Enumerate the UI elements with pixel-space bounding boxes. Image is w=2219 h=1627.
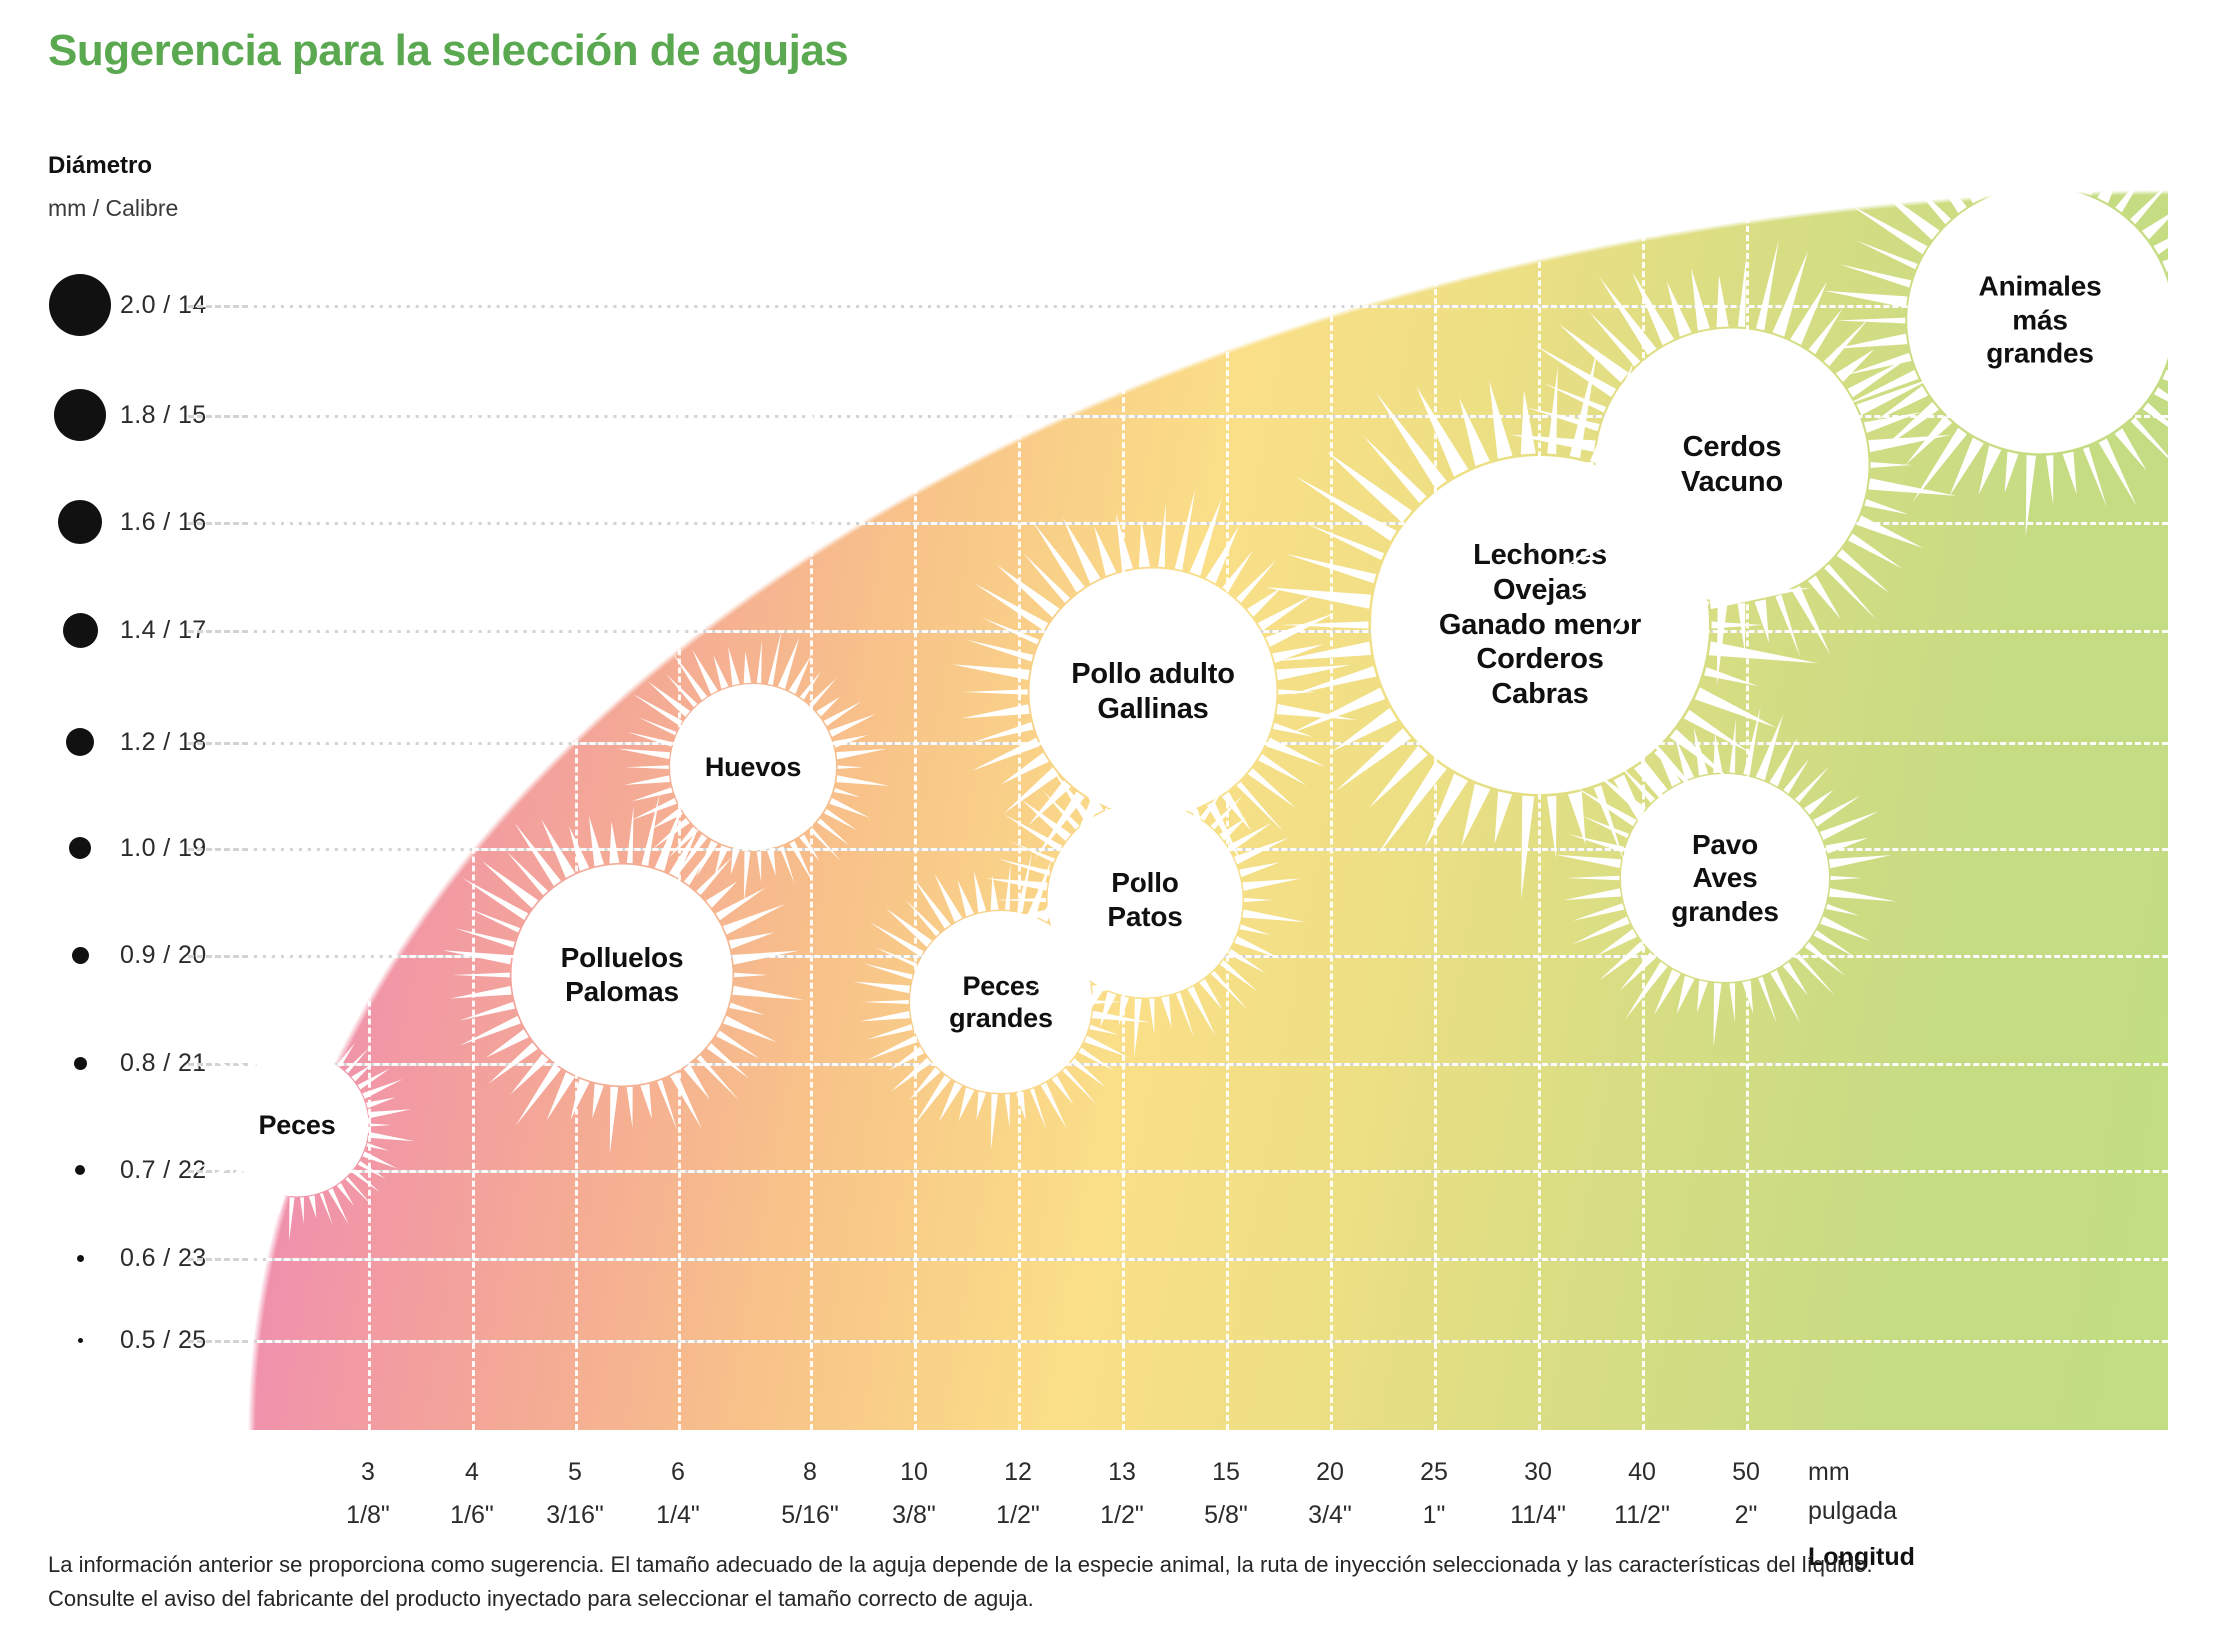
burst-label: Animalesmásgrandes [1979,270,2102,371]
burst-marker: Animalesmásgrandes [1815,95,2219,546]
legend-dot-wrap [40,1165,120,1175]
x-axis-tick: 155/8" [1204,1458,1248,1530]
needle-diameter-dot-icon [49,274,111,336]
burst-marker: PavoAvesgrandes [1549,702,1901,1054]
footer-note: La información anterior se proporciona c… [48,1548,2178,1616]
burst-label-line: grandes [1979,337,2102,371]
burst-label: PolluelosPalomas [561,941,684,1008]
x-axis-tick-mm: 8 [803,1458,817,1486]
legend-dot-wrap [40,1255,120,1262]
x-axis-tick: 131/2" [1100,1458,1144,1530]
legend-subheading: mm / Calibre [48,195,178,222]
x-axis-tick-inch: 1/2" [996,1501,1040,1530]
legend-dot-wrap [40,500,120,544]
x-axis-tick: 61/4" [656,1458,700,1530]
x-axis-tick: 3011/4" [1510,1458,1566,1530]
x-axis-tick-inch: 1/8" [346,1501,390,1530]
legend-dot-wrap [40,389,120,441]
legend-item-18: 1.2 / 18 [40,722,250,762]
burst-label-line: Pollo adulto [1071,657,1235,692]
burst-label: CerdosVacuno [1681,430,1783,500]
burst-label-line: Cerdos [1681,430,1783,465]
burst-label-line: Aves [1671,861,1779,895]
x-axis-tick-inch: 2" [1732,1501,1760,1530]
legend-dot-wrap [40,613,120,648]
x-axis-unit-mm: mm [1808,1458,1850,1487]
x-axis-tick-mm: 15 [1212,1458,1240,1486]
legend-item-label: 1.8 / 15 [120,401,207,430]
needle-diameter-dot-icon [78,1338,83,1343]
needle-diameter-dot-icon [58,500,102,544]
burst-label-line: Peces [258,1109,335,1141]
x-axis-tick-inch: 1/2" [1100,1501,1144,1530]
legend-dot-wrap [40,274,120,336]
x-axis-tick-mm: 30 [1524,1458,1552,1486]
burst-label-line: Palomas [561,975,684,1009]
x-axis-tick-mm: 50 [1732,1458,1760,1486]
legend-item-15: 1.8 / 15 [40,395,250,435]
x-axis-tick-inch: 11/4" [1510,1501,1566,1530]
x-axis-tick: 121/2" [996,1458,1040,1530]
x-axis-tick-inch: 3/4" [1308,1501,1352,1530]
needle-diameter-dot-icon [72,947,89,964]
burst-label-line: Vacuno [1681,465,1783,500]
x-axis-tick-mm: 20 [1316,1458,1344,1486]
legend-item-16: 1.6 / 16 [40,502,250,542]
x-axis-tick-inch: 1/6" [450,1501,494,1530]
burst-label: Huevos [705,751,801,783]
burst-label-line: Patos [1107,900,1182,934]
legend-dot-wrap [40,1057,120,1070]
page-title: Sugerencia para la selección de agujas [48,26,848,76]
x-axis-tick-inch: 5/8" [1204,1501,1248,1530]
legend-item-label: 1.0 / 19 [120,834,207,863]
x-axis-tick: 85/16" [781,1458,839,1530]
burst-marker: Peces [176,1004,418,1246]
needle-diameter-dot-icon [66,728,94,756]
x-axis-tick-mm: 12 [1004,1458,1032,1486]
x-axis-tick: 203/4" [1308,1458,1352,1530]
x-axis-tick: 31/8" [346,1458,390,1530]
burst-label-line: más [1979,303,2102,337]
needle-diameter-dot-icon [69,837,91,859]
x-axis-tick: 53/16" [546,1458,604,1530]
legend-item-label: 0.9 / 20 [120,941,207,970]
legend-item-label: 2.0 / 14 [120,291,207,320]
x-axis-tick-mm: 10 [900,1458,928,1486]
legend-item-label: 1.2 / 18 [120,728,207,757]
x-axis-unit-pulgada: pulgada [1808,1497,1897,1526]
x-axis-tick-inch: 11/2" [1614,1501,1670,1530]
x-axis-tick: 4011/2" [1614,1458,1670,1530]
burst-label-line: Huevos [705,751,801,783]
burst-label: Pollo adultoGallinas [1071,657,1235,727]
legend-item-19: 1.0 / 19 [40,828,250,868]
x-axis-tick-mm: 40 [1628,1458,1656,1486]
legend-heading: Diámetro [48,152,152,180]
x-axis-tick-inch: 3/8" [892,1501,936,1530]
burst-label-line: Pavo [1671,828,1779,862]
x-axis-tick: 251" [1420,1458,1448,1530]
legend-dot-wrap [40,728,120,756]
legend-dot-wrap [40,837,120,859]
needle-diameter-dot-icon [63,613,98,648]
x-axis-tick-mm: 6 [671,1458,685,1486]
x-axis-tick-inch: 3/16" [546,1501,604,1530]
burst-label-line: Polluelos [561,941,684,975]
legend-item-label: 1.4 / 17 [120,616,207,645]
legend-item-label: 0.6 / 23 [120,1244,207,1273]
needle-diameter-dot-icon [54,389,106,441]
needle-diameter-dot-icon [77,1255,84,1262]
x-axis-tick-mm: 3 [361,1458,375,1486]
x-axis-tick-inch: 1" [1420,1501,1448,1530]
burst-label-line: Gallinas [1071,692,1235,727]
x-axis-tick-inch: 1/4" [656,1501,700,1530]
x-axis-tick: 502" [1732,1458,1760,1530]
x-axis-tick: 103/8" [892,1458,936,1530]
burst-label: Peces [258,1109,335,1141]
legend-item-label: 0.5 / 25 [120,1326,207,1355]
x-axis-tick: 41/6" [450,1458,494,1530]
legend-item-20: 0.9 / 20 [40,935,250,975]
x-axis-tick-mm: 4 [465,1458,479,1486]
x-axis-tick-mm: 25 [1420,1458,1448,1486]
legend-dot-wrap [40,1338,120,1343]
footer-line-1: La información anterior se proporciona c… [48,1548,2178,1582]
x-axis-tick-inch: 5/16" [781,1501,839,1530]
burst-label-line: grandes [1671,895,1779,929]
x-axis-tick-mm: 13 [1108,1458,1136,1486]
chart-plot-area: PecesPolluelosPalomasHuevosPecesgrandesP… [248,190,2168,1430]
footer-line-2: Consulte el aviso del fabricante del pro… [48,1582,2178,1616]
legend-item-25: 0.5 / 25 [40,1320,250,1360]
burst-label: PavoAvesgrandes [1671,828,1779,929]
legend-dot-wrap [40,947,120,964]
burst-label-line: Animales [1979,270,2102,304]
needle-diameter-dot-icon [75,1165,85,1175]
legend-item-14: 2.0 / 14 [40,285,250,325]
needle-diameter-dot-icon [74,1057,87,1070]
legend-item-label: 1.6 / 16 [120,508,207,537]
x-axis-tick-mm: 5 [568,1458,582,1486]
legend-item-17: 1.4 / 17 [40,610,250,650]
